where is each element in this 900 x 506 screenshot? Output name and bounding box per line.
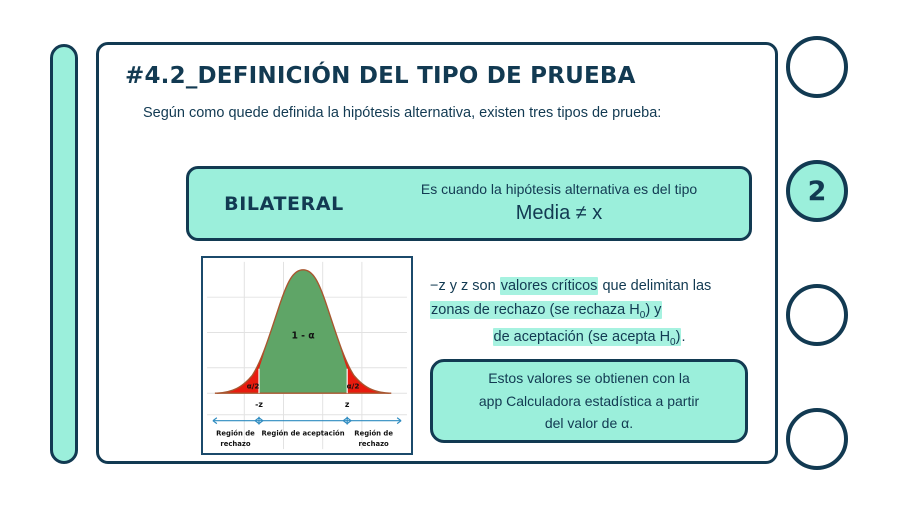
left-accent-bar	[50, 44, 78, 464]
explain-hl2-a: zonas de rechazo (se rechaza H	[431, 302, 640, 318]
explain-hl3-a: de aceptación (se acepta H	[494, 329, 671, 345]
explain-highlight-zonas-rechazo: zonas de rechazo (se rechaza H0) y	[430, 301, 662, 319]
explain-line-3: de aceptación (se acepta H0).	[430, 325, 748, 351]
page-marker-3[interactable]	[786, 284, 848, 346]
explanation-paragraph: −z y z son valores críticos que delimita…	[430, 274, 748, 351]
bilateral-panel: BILATERAL Es cuando la hipótesis alterna…	[186, 166, 752, 241]
region-label-right-1: Región de	[354, 429, 393, 437]
intro-paragraph: Según como quede definida la hipótesis a…	[143, 102, 743, 125]
callout-text: Estos valores se obtienen con la app Cal…	[479, 367, 699, 435]
bilateral-body: Es cuando la hipótesis alternativa es de…	[379, 180, 749, 228]
callout-line-2: app Calculadora estadística a partir	[479, 393, 699, 409]
explain-text-1: −z y z son	[430, 278, 500, 294]
region-label-right-2: rechazo	[359, 440, 390, 448]
region-label-center: Región de aceptación	[262, 429, 345, 437]
region-label-left-2: rechazo	[220, 440, 251, 448]
explain-text-4: .	[681, 329, 685, 345]
tick-label-negative-z: -z	[255, 400, 263, 409]
explain-text-2: que delimitan	[598, 278, 688, 294]
callout-line-1: Estos valores se obtienen con la	[488, 370, 690, 386]
page-marker-2[interactable]: 2	[786, 160, 848, 222]
normal-curve-svg: 1 - α α/2 α/2 -z z Región de rechazo	[203, 258, 411, 453]
callout-line-3: del valor de α.	[545, 415, 633, 431]
calculator-callout: Estos valores se obtienen con la app Cal…	[430, 359, 748, 443]
page-marker-list: 2	[786, 36, 856, 470]
normal-curve-figure: 1 - α α/2 α/2 -z z Región de rechazo	[201, 256, 413, 455]
label-alpha-half-left: α/2	[247, 381, 260, 390]
tick-label-positive-z: z	[345, 400, 350, 409]
page-marker-4[interactable]	[786, 408, 848, 470]
explain-hl3-b: )	[676, 329, 681, 345]
bilateral-label: BILATERAL	[189, 193, 379, 215]
explain-hl2-b: ) y	[645, 302, 661, 318]
page-title: #4.2_DEFINICIÓN DEL TIPO DE PRUEBA	[125, 63, 749, 89]
bilateral-description: Es cuando la hipótesis alternativa es de…	[379, 180, 739, 199]
explain-highlight-valores-criticos: valores críticos	[500, 277, 599, 295]
slide-root: #4.2_DEFINICIÓN DEL TIPO DE PRUEBA Según…	[0, 0, 900, 506]
label-alpha-half-right: α/2	[347, 381, 360, 390]
bilateral-formula: Media ≠ x	[379, 200, 739, 227]
explain-highlight-aceptacion: de aceptación (se acepta H0)	[493, 328, 682, 346]
page-marker-2-label: 2	[808, 178, 827, 205]
region-label-left-1: Región de	[216, 429, 255, 437]
explain-text-3: las	[693, 278, 712, 294]
region-arrow-bar	[213, 417, 401, 425]
page-marker-1[interactable]	[786, 36, 848, 98]
label-one-minus-alpha: 1 - α	[291, 330, 314, 341]
